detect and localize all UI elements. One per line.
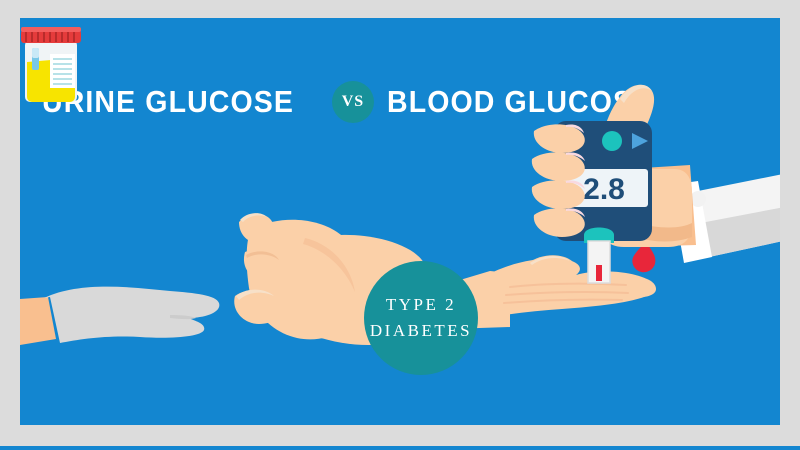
blood-glucose-meter-group: 2.8: [540, 73, 780, 288]
infographic-frame: URINE GLUCOSE VS BLOOD GLUCOSE: [0, 0, 800, 450]
test-strip-blood-line-icon: [596, 265, 602, 281]
gloved-hand: [20, 273, 230, 353]
power-button-icon: [602, 131, 622, 151]
badge-line-1: TYPE 2: [386, 292, 456, 318]
wrist-skin-icon: [20, 297, 56, 345]
versus-badge: VS: [332, 81, 374, 123]
versus-label: VS: [342, 93, 364, 111]
illustration-canvas: URINE GLUCOSE VS BLOOD GLUCOSE: [20, 18, 780, 425]
meter-display-value: 2.8: [583, 173, 625, 206]
type-2-diabetes-badge: TYPE 2 DIABETES: [364, 261, 478, 375]
badge-line-2: DIABETES: [370, 318, 472, 344]
bottom-accent-strip: [0, 446, 800, 450]
urine-sample-cup: [20, 18, 90, 108]
latex-glove-icon: [44, 287, 219, 343]
cap-top-icon: [21, 27, 81, 32]
